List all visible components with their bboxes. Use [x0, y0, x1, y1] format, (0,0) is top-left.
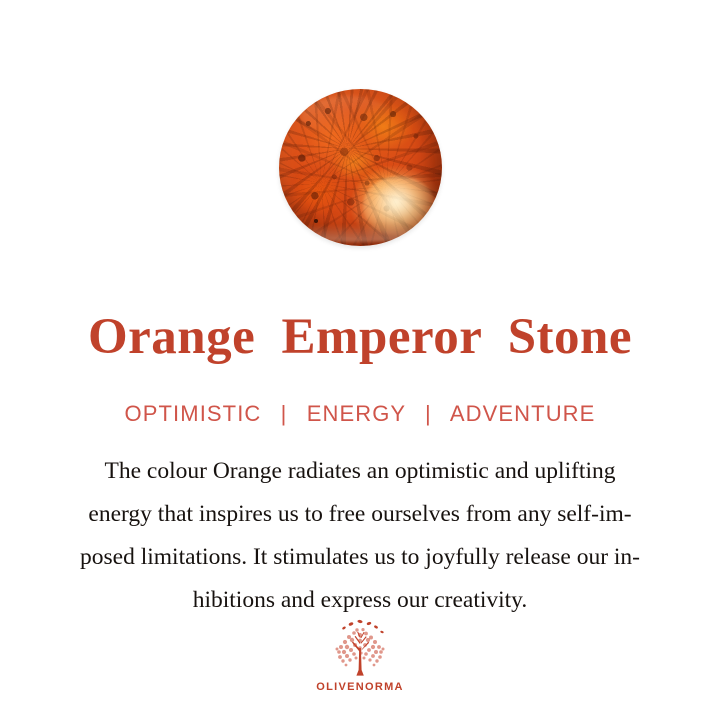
description-line: posed limitations. It stimulates us to j… — [0, 536, 720, 579]
description-line: hibitions and express our creativity. — [0, 579, 720, 622]
description-line: The colour Orange radiates an optimistic… — [0, 450, 720, 493]
brand-logo: OLIVENORMA — [0, 618, 720, 693]
product-info-card: Orange Emperor Stone OPTIMISTIC | ENERGY… — [0, 0, 720, 720]
orange-emperor-stone-image — [279, 89, 442, 246]
description-line: energy that inspires us to free ourselve… — [0, 493, 720, 536]
keyword-list: OPTIMISTIC | ENERGY | ADVENTURE — [0, 403, 720, 425]
brand-wordmark: OLIVENORMA — [316, 682, 404, 693]
keyword-separator: | — [413, 403, 444, 425]
page-title: Orange Emperor Stone — [0, 312, 720, 363]
keyword-adventure: ADVENTURE — [450, 401, 596, 426]
keyword-optimistic: OPTIMISTIC — [125, 401, 262, 426]
keyword-energy: ENERGY — [307, 401, 406, 426]
description-paragraph: The colour Orange radiates an optimistic… — [0, 450, 720, 622]
product-image-container — [0, 86, 720, 248]
tree-icon — [326, 618, 394, 680]
keyword-separator: | — [269, 403, 300, 425]
stone-bottom-glint — [292, 224, 429, 243]
